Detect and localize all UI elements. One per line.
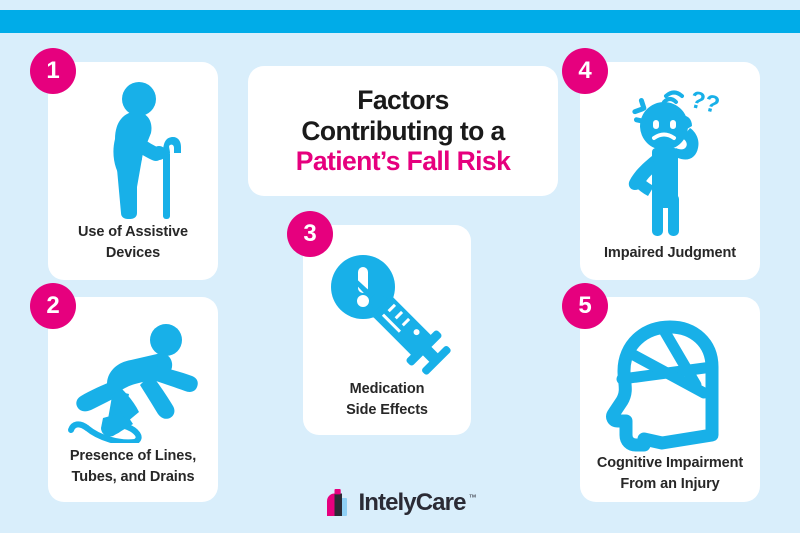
intelycare-logo[interactable]: IntelyCare ™: [0, 489, 800, 517]
card-number-badge-1: 1: [30, 48, 76, 94]
factor-card-3-label-line2: Side Effects: [346, 402, 428, 418]
syringe-with-warning-icon: [303, 247, 471, 379]
factor-card-3-label-line1: Medication: [350, 381, 425, 397]
card-number-badge-4: 4: [562, 48, 608, 94]
page-title-line-1: Factors: [357, 85, 449, 116]
title-card: Factors Contributing to a Patient’s Fall…: [248, 66, 558, 196]
bandaged-head-icon: [580, 313, 760, 453]
factor-card-1[interactable]: 1: [48, 62, 218, 280]
factor-card-4-label-line1: Impaired Judgment: [604, 245, 736, 261]
confused-person-icon: ??: [580, 82, 760, 243]
card-number-badge-2: 2: [30, 283, 76, 329]
factor-card-2-label: Presence of Lines, Tubes, and Drains: [62, 446, 204, 488]
factor-card-2-label-line2: Tubes, and Drains: [72, 469, 195, 485]
factor-card-4-label: Impaired Judgment: [596, 243, 744, 264]
factor-card-1-label: Use of Assistive Devices: [70, 222, 196, 264]
factor-card-3-label: Medication Side Effects: [338, 379, 436, 421]
factor-card-1-label-line1: Use of Assistive: [78, 224, 188, 240]
person-tripping-over-tube-icon: [48, 315, 218, 446]
elderly-person-with-cane-icon: [48, 80, 218, 222]
svg-text:??: ??: [687, 86, 722, 119]
factor-card-1-label-line2: Devices: [106, 245, 160, 261]
intelycare-logo-mark: [323, 489, 351, 517]
factor-card-2-label-line1: Presence of Lines,: [70, 448, 196, 464]
top-accent-bar: [0, 10, 800, 33]
factor-card-2[interactable]: 2: [48, 297, 218, 502]
infographic-canvas: Factors Contributing to a Patient’s Fall…: [0, 0, 800, 533]
intelycare-logo-text: IntelyCare: [358, 489, 465, 517]
card-number-badge-5: 5: [562, 283, 608, 329]
trademark-symbol: ™: [469, 493, 477, 502]
factor-card-3[interactable]: 3: [303, 225, 471, 435]
factor-card-4[interactable]: 4: [580, 62, 760, 280]
page-title-line-3: Patient’s Fall Risk: [296, 146, 510, 177]
factor-card-5-label-line1: Cognitive Impairment: [597, 455, 743, 471]
page-title-line-2: Contributing to a: [301, 116, 504, 147]
factor-card-5[interactable]: 5 Cognitive Impairment From an Injury: [580, 297, 760, 502]
card-number-badge-3: 3: [287, 211, 333, 257]
